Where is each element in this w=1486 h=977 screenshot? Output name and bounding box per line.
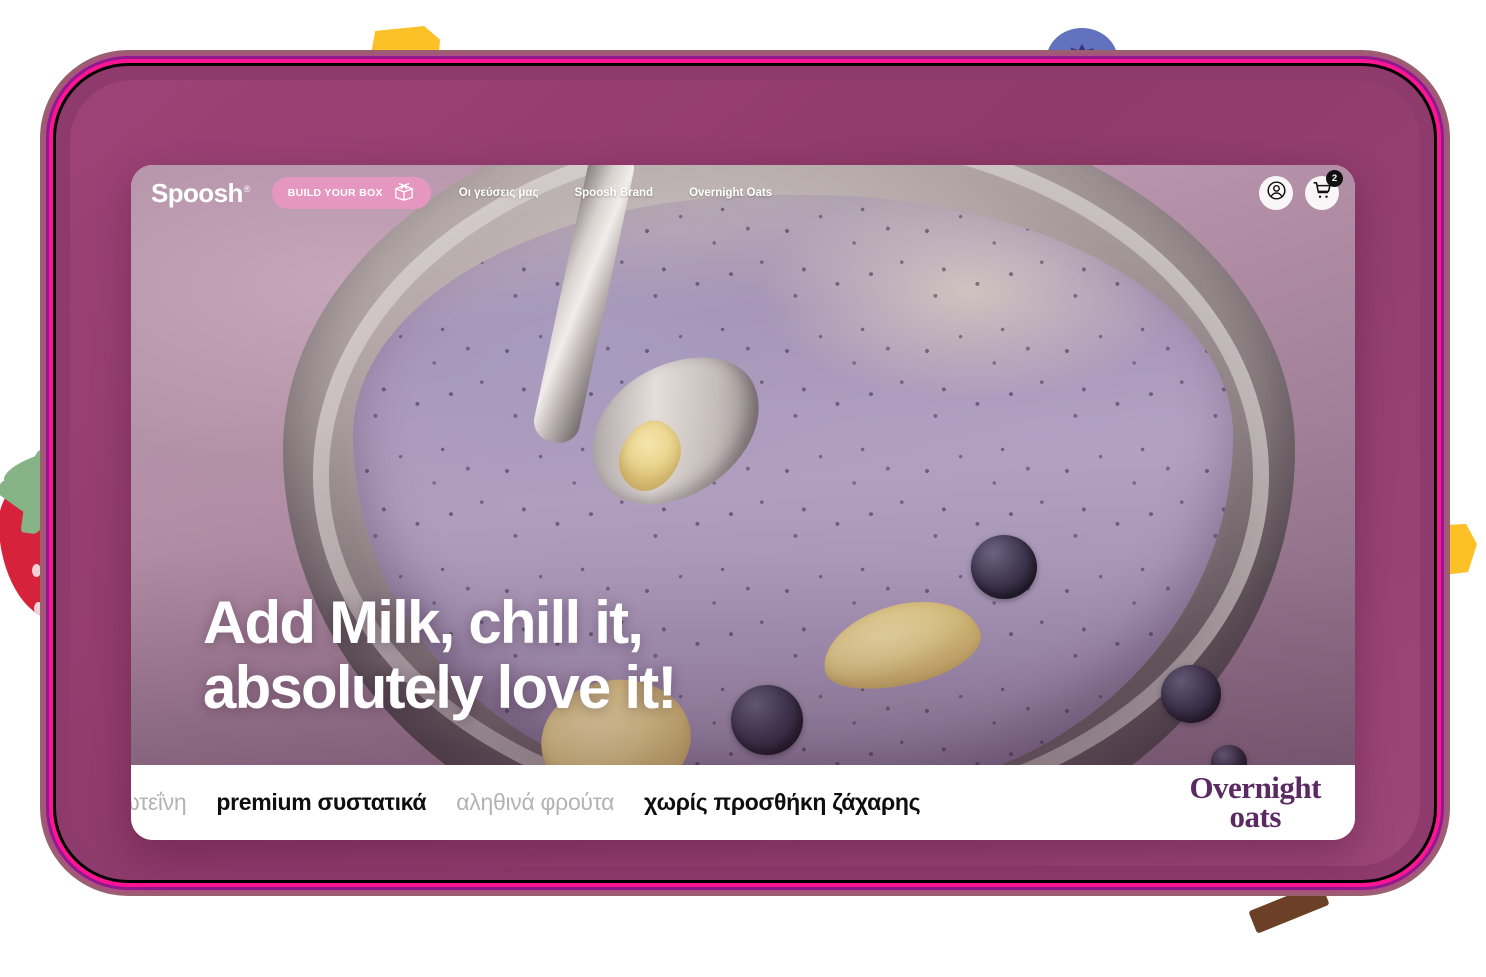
feature-item-no-sugar: χωρίς προσθήκη ζάχαρης — [644, 789, 920, 816]
hero-card: Spoosh® BUILD YOUR BOX Οι γεύσ — [131, 165, 1355, 840]
overnight-oats-line-2: oats — [1189, 803, 1321, 832]
feature-item-premium: premium συστατικά — [216, 789, 426, 816]
top-navigation-bar: Spoosh® BUILD YOUR BOX Οι γεύσ — [131, 165, 1355, 221]
build-your-box-button[interactable]: BUILD YOUR BOX — [272, 177, 431, 209]
nav-link-overnight-oats[interactable]: Overnight Oats — [689, 187, 772, 199]
page-root: Spoosh® BUILD YOUR BOX Οι γεύσ — [0, 0, 1486, 977]
strawberry-seed — [34, 602, 43, 615]
feature-strip: ρωτεΐνη premium συστατικά αληθινά φρούτα… — [131, 765, 1355, 840]
chocolate-bar-icon — [1248, 882, 1329, 933]
cart-count-badge: 2 — [1326, 170, 1343, 187]
trademark-symbol: ® — [244, 184, 250, 194]
nav-link-spoosh-brand[interactable]: Spoosh Brand — [574, 187, 653, 199]
feature-item-real-fruit: αληθινά φρούτα — [456, 789, 614, 816]
headline-line-2: absolutely love it! — [203, 656, 676, 721]
build-your-box-label: BUILD YOUR BOX — [288, 187, 383, 199]
spoosh-logo[interactable]: Spoosh® — [151, 180, 250, 206]
hero-image: Spoosh® BUILD YOUR BOX Οι γεύσ — [131, 165, 1355, 765]
user-account-icon — [1266, 180, 1287, 206]
cart-button-wrapper[interactable]: 2 — [1305, 176, 1339, 210]
hero-headline: Add Milk, chill it, absolutely love it! — [203, 591, 676, 721]
account-button[interactable] — [1259, 176, 1293, 210]
open-box-icon — [393, 181, 415, 206]
logo-text: Spoosh — [151, 178, 243, 208]
feature-item-protein: ρωτεΐνη — [131, 789, 186, 816]
feature-list: ρωτεΐνη premium συστατικά αληθινά φρούτα… — [131, 789, 1189, 816]
headline-line-1: Add Milk, chill it, — [203, 589, 642, 656]
nav-link-flavours[interactable]: Οι γεύσεις μας — [459, 187, 539, 199]
strawberry-seed — [32, 564, 41, 577]
overnight-oats-badge: Overnight oats — [1189, 774, 1321, 831]
